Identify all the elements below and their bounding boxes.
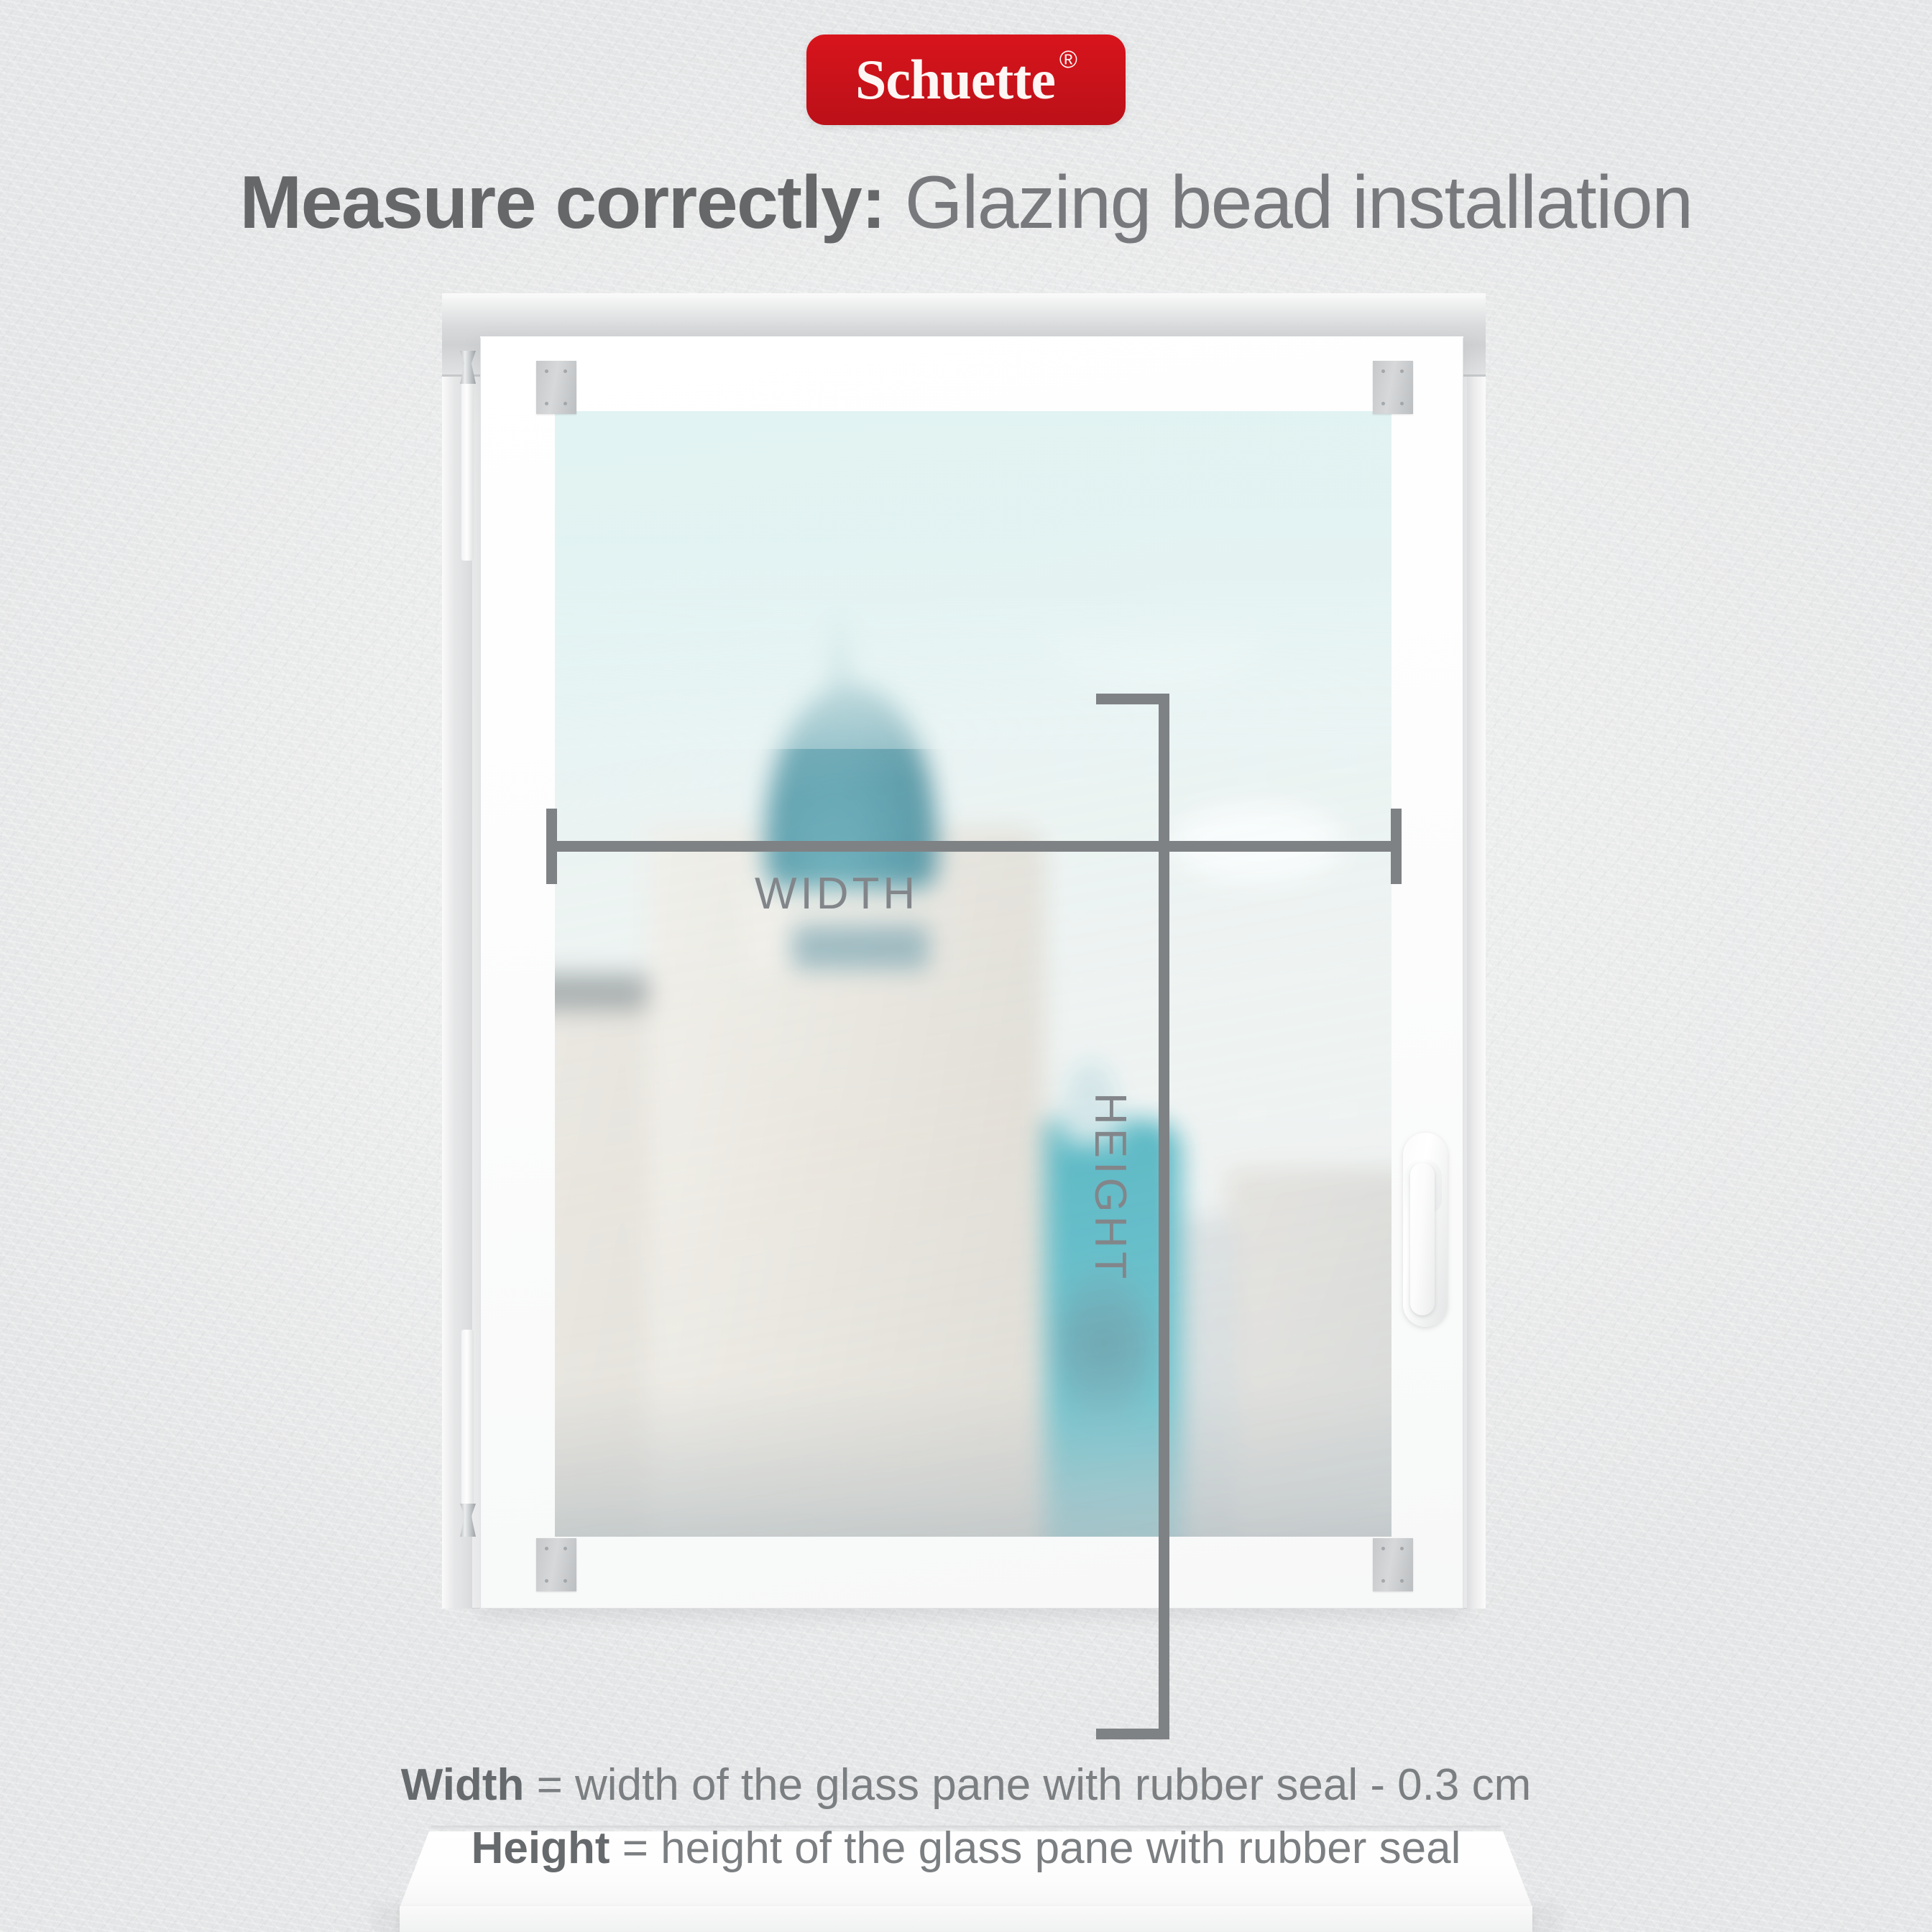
building-sign [793, 925, 929, 969]
hinge-bar-top [461, 381, 474, 561]
legend-key-height: Height [471, 1823, 610, 1873]
window-sill-front [400, 1906, 1532, 1932]
infographic-canvas: Schuette® Measure correctly: Glazing bea… [0, 0, 1932, 1932]
building-teal-top [1064, 1059, 1118, 1144]
page-title-light: Glazing bead installation [905, 161, 1693, 244]
window-glass-pane [555, 411, 1391, 1537]
glazing-bracket-top-right [1373, 361, 1413, 414]
hinge-bar-bottom [461, 1330, 474, 1505]
page-title-strong: Measure correctly: [240, 161, 885, 244]
window-scene: WIDTH HEIGHT [0, 273, 1932, 1696]
legend-value-width: = width of the glass pane with rubber se… [524, 1760, 1531, 1810]
brand-logo-text: Schuette® [855, 52, 1077, 108]
street-haze [555, 1387, 1391, 1537]
brand-logo: Schuette® [806, 34, 1126, 125]
legend-key-width: Width [401, 1760, 525, 1810]
reveal-jamb-right [1467, 293, 1486, 1609]
measurement-legend: Width = width of the glass pane with rub… [0, 1754, 1932, 1880]
glazing-bracket-bottom-left [536, 1538, 576, 1591]
building-spire [833, 536, 846, 707]
height-measure-end-cap-bottom [1096, 1729, 1169, 1739]
legend-line-height: Height = height of the glass pane with r… [0, 1817, 1932, 1880]
legend-line-width: Width = width of the glass pane with rub… [0, 1754, 1932, 1817]
glazing-bracket-top-left [536, 361, 576, 414]
page-title: Measure correctly: Glazing bead installa… [0, 164, 1932, 242]
window-handle-lever[interactable] [1410, 1163, 1435, 1315]
cityscape-view [555, 411, 1391, 1537]
glazing-bracket-bottom-right [1373, 1538, 1413, 1591]
cloud [1046, 585, 1263, 686]
legend-value-height: = height of the glass pane with rubber s… [609, 1823, 1460, 1873]
registered-trademark-icon: ® [1059, 47, 1077, 72]
cloud [1172, 804, 1343, 881]
